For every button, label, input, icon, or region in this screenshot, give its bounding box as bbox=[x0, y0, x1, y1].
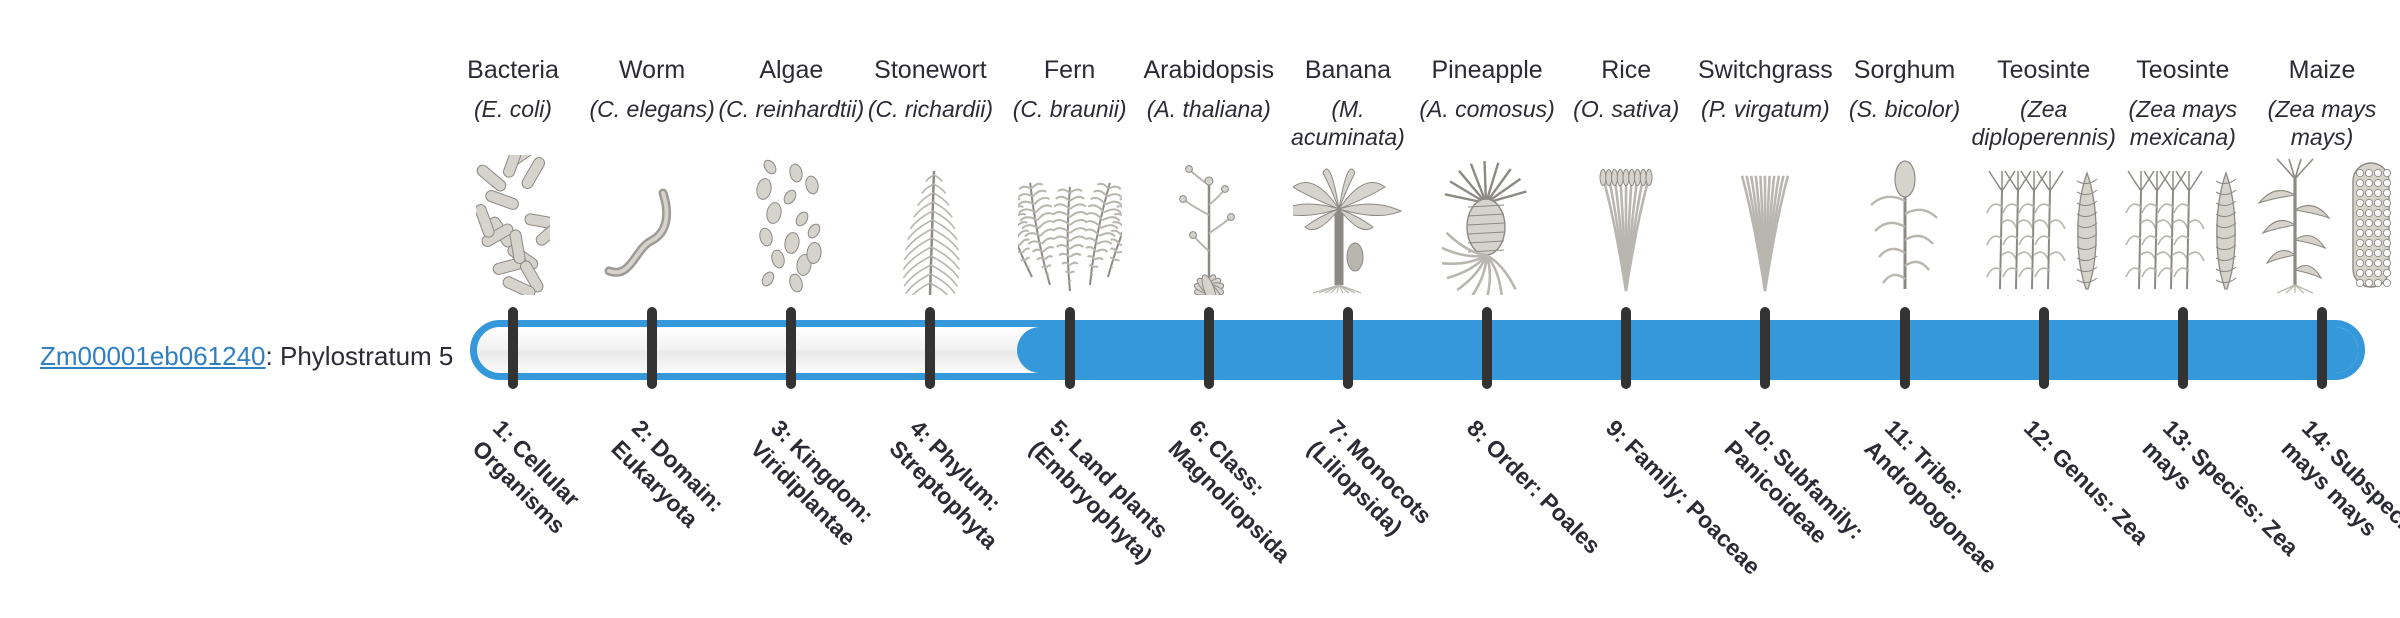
species-common-name: Switchgrass bbox=[1690, 55, 1840, 86]
species-common-name: Rice bbox=[1551, 55, 1701, 86]
phylostratum-tick bbox=[2178, 307, 2188, 389]
species-latin-name: (C. richardii) bbox=[855, 95, 1005, 123]
species-latin-name: (M. acuminata) bbox=[1273, 95, 1423, 151]
rice-icon bbox=[1551, 170, 1701, 295]
phylostratum-tick bbox=[1621, 307, 1631, 389]
species-common-name: Maize bbox=[2247, 55, 2397, 86]
algae-icon bbox=[716, 170, 866, 295]
phylostratum-tick bbox=[508, 307, 518, 389]
gene-id-link[interactable]: Zm00001eb061240 bbox=[40, 341, 266, 371]
phylostratum-tick bbox=[1065, 307, 1075, 389]
species-common-name: Sorghum bbox=[1830, 55, 1980, 86]
species-common-name: Stonewort bbox=[855, 55, 1005, 86]
species-latin-name: (O. sativa) bbox=[1551, 95, 1701, 123]
phylostratum-value: Phylostratum 5 bbox=[280, 341, 453, 371]
phylostratum-tick bbox=[2317, 307, 2327, 389]
species-latin-name: (C. braunii) bbox=[995, 95, 1145, 123]
species-latin-name: (Zea mays mexicana) bbox=[2108, 95, 2258, 151]
gene-label-separator: : bbox=[266, 341, 280, 371]
species-latin-name: (P. virgatum) bbox=[1690, 95, 1840, 123]
species-latin-name: (S. bicolor) bbox=[1830, 95, 1980, 123]
species-common-name: Bacteria bbox=[438, 55, 588, 86]
phylostratum-tick bbox=[1760, 307, 1770, 389]
species-latin-name: (Zea diploperennis) bbox=[1969, 95, 2119, 151]
species-latin-name: (Zea mays mays) bbox=[2247, 95, 2397, 151]
phylostratum-tick bbox=[1482, 307, 1492, 389]
phylostratum-tick bbox=[925, 307, 935, 389]
arabidopsis-icon bbox=[1134, 170, 1284, 295]
phylostratum-tick bbox=[1343, 307, 1353, 389]
species-latin-name: (A. thaliana) bbox=[1134, 95, 1284, 123]
teosinte-icon bbox=[1969, 170, 2119, 295]
pineapple-icon bbox=[1412, 170, 1562, 295]
species-common-name: Arabidopsis bbox=[1134, 55, 1284, 86]
maize-icon bbox=[2247, 170, 2397, 295]
phylostratum-tick bbox=[2039, 307, 2049, 389]
bacteria-icon bbox=[438, 170, 588, 295]
species-common-name: Banana bbox=[1273, 55, 1423, 86]
switchgrass-icon bbox=[1690, 170, 1840, 295]
species-common-name: Pineapple bbox=[1412, 55, 1562, 86]
species-common-name: Worm bbox=[577, 55, 727, 86]
species-common-name: Algae bbox=[716, 55, 866, 86]
stonewort-icon bbox=[855, 170, 1005, 295]
species-latin-name: (C. reinhardtii) bbox=[716, 95, 866, 123]
teosinte-icon bbox=[2108, 170, 2258, 295]
phylostratum-tick bbox=[1900, 307, 1910, 389]
fern-icon bbox=[995, 170, 1145, 295]
phylostratum-tick bbox=[786, 307, 796, 389]
species-latin-name: (A. comosus) bbox=[1412, 95, 1562, 123]
species-latin-name: (C. elegans) bbox=[577, 95, 727, 123]
species-common-name: Teosinte bbox=[2108, 55, 2258, 86]
species-common-name: Fern bbox=[995, 55, 1145, 86]
worm-icon bbox=[577, 170, 727, 295]
phylostratum-tick bbox=[1204, 307, 1214, 389]
sorghum-icon bbox=[1830, 170, 1980, 295]
banana-icon bbox=[1273, 170, 1423, 295]
phylostratum-tick bbox=[647, 307, 657, 389]
species-latin-name: (E. coli) bbox=[438, 95, 588, 123]
species-common-name: Teosinte bbox=[1969, 55, 2119, 86]
gene-phylostratum-label: Zm00001eb061240: Phylostratum 5 bbox=[40, 341, 453, 372]
